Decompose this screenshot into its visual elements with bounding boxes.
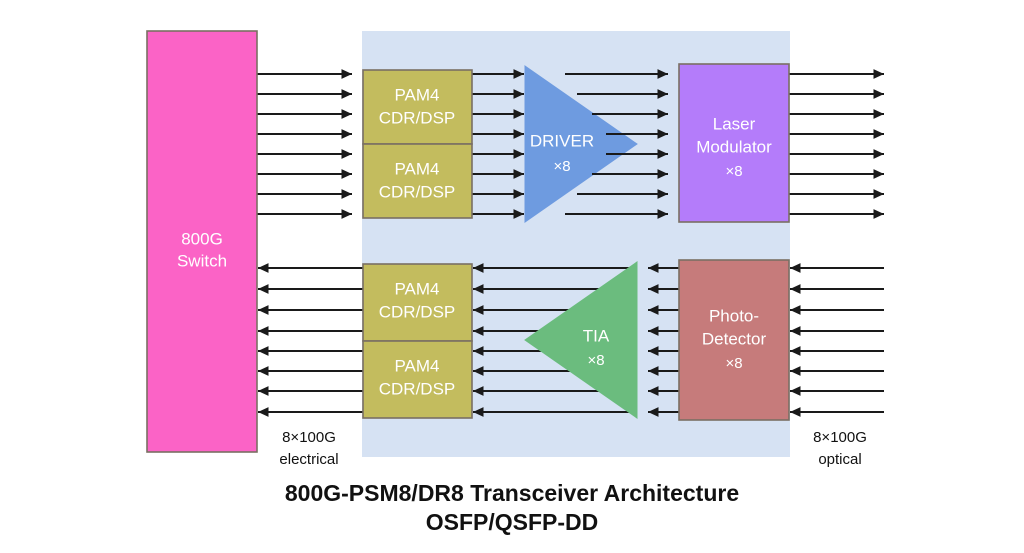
- tia-label-line2: ×8: [587, 352, 604, 369]
- pam4-rx-lower-label-line1: PAM4: [394, 356, 439, 375]
- laser-modulator-label-line3: ×8: [725, 163, 742, 180]
- photo-detector-label-line3: ×8: [725, 355, 742, 372]
- diagram-title-line1: 800G-PSM8/DR8 Transceiver Architecture: [285, 480, 739, 506]
- pam4-rx-upper-label-line1: PAM4: [394, 279, 439, 298]
- transceiver-architecture-diagram: 800G Switch PAM4 CDR/DSP PAM4 CDR/DSP DR…: [0, 0, 1024, 553]
- rx-optical-input-lanes: [790, 268, 884, 412]
- pam4-tx-upper-label-line2: CDR/DSP: [379, 108, 456, 127]
- switch-label-line2: Switch: [177, 251, 227, 270]
- pam4-tx-lower-block: [363, 144, 472, 218]
- tia-label-line1: TIA: [583, 326, 610, 345]
- tx-optical-output-lanes: [789, 74, 884, 214]
- tx-electrical-lanes: [257, 74, 352, 214]
- rx-electrical-lanes: [258, 268, 363, 412]
- electrical-annotation-line1: 8×100G: [282, 429, 336, 446]
- photo-detector-label-line1: Photo-: [709, 306, 759, 325]
- diagram-title-line2: OSFP/QSFP-DD: [426, 509, 599, 535]
- photo-detector-label-line2: Detector: [702, 329, 767, 348]
- pam4-tx-upper-block: [363, 70, 472, 144]
- optical-annotation-line1: 8×100G: [813, 429, 867, 446]
- diagram-canvas: 800G Switch PAM4 CDR/DSP PAM4 CDR/DSP DR…: [0, 0, 1024, 553]
- pam4-rx-upper-label-line2: CDR/DSP: [379, 302, 456, 321]
- switch-label-line1: 800G: [181, 229, 223, 248]
- laser-modulator-label-line2: Modulator: [696, 137, 772, 156]
- pam4-tx-lower-label-line2: CDR/DSP: [379, 182, 456, 201]
- pam4-tx-upper-label-line1: PAM4: [394, 85, 439, 104]
- optical-annotation-line2: optical: [818, 451, 861, 468]
- driver-label-line1: DRIVER: [530, 131, 594, 150]
- driver-label-line2: ×8: [553, 158, 570, 175]
- laser-modulator-label-line1: Laser: [713, 114, 756, 133]
- electrical-annotation-line2: electrical: [279, 451, 338, 468]
- pam4-rx-lower-label-line2: CDR/DSP: [379, 379, 456, 398]
- pam4-tx-lower-label-line1: PAM4: [394, 159, 439, 178]
